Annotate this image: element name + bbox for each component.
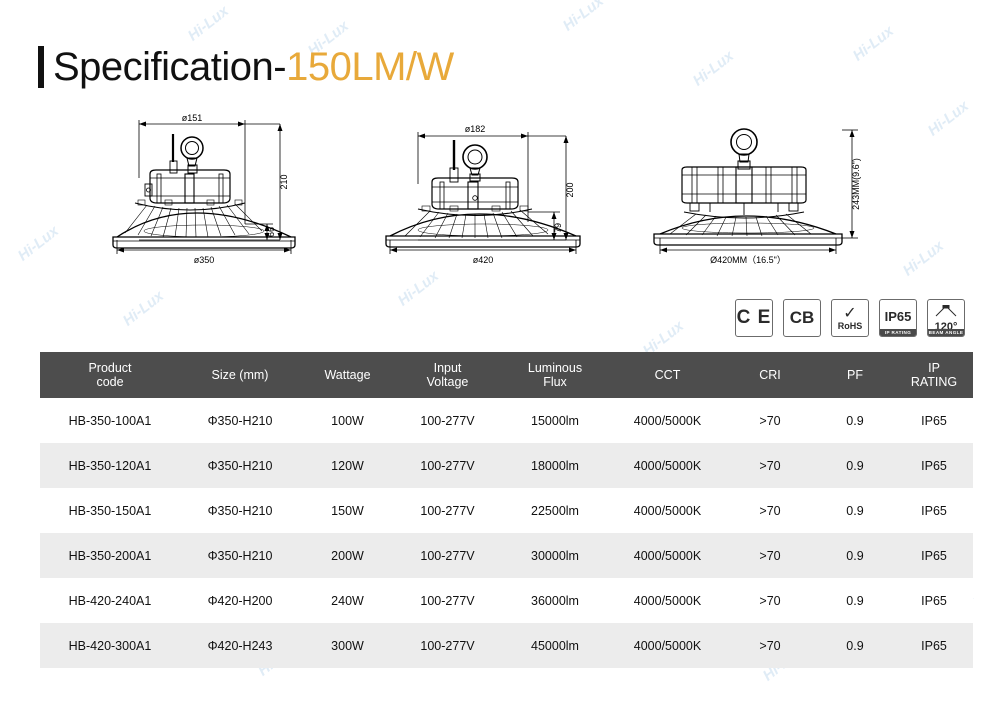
table-cell-r5-c2: 300W [300,623,395,668]
ce-badge: C E [735,299,773,337]
table-header-cell-7: PF [815,352,895,398]
table-cell-r1-c4: 18000lm [500,443,610,488]
table-cell-r3-c2: 200W [300,533,395,578]
header-line-2: code [42,375,178,389]
table-cell-r4-c0: HB-420-240A1 [40,578,180,623]
table-cell-r5-c1: Φ420-H243 [180,623,300,668]
table-cell-r1-c5: 4000/5000K [610,443,725,488]
header-line-1: CRI [727,368,813,382]
table-cell-r3-c6: >70 [725,533,815,578]
table-cell-r0-c1: Φ350-H210 [180,398,300,443]
table-cell-r4-c3: 100-277V [395,578,500,623]
dim-top-2: ø182 [465,124,486,134]
table-cell-r2-c8: IP65 [895,488,973,533]
table-cell-r2-c0: HB-350-150A1 [40,488,180,533]
watermark-text: Hi-Lux [690,47,737,89]
table-cell-r3-c0: HB-350-200A1 [40,533,180,578]
ip65-badge: IP65 IP RATING [879,299,917,337]
header-line-1: Input [397,361,498,375]
table-cell-r4-c8: IP65 [895,578,973,623]
ce-label: C E [737,307,772,329]
table-cell-r0-c7: 0.9 [815,398,895,443]
table-cell-r0-c2: 100W [300,398,395,443]
table-cell-r0-c6: >70 [725,398,815,443]
title-accent-bar [38,46,44,88]
page-title: Specification-150LM/W [38,46,454,88]
beam-angle-sublabel: BEAM ANGLE [928,329,964,336]
table-cell-r1-c3: 100-277V [395,443,500,488]
header-line-1: PF [817,368,893,382]
header-line-1: IP [897,361,971,375]
header-line-1: Product [42,361,178,375]
table-cell-r5-c7: 0.9 [815,623,895,668]
rohs-label: RoHS [838,321,863,331]
header-line-1: Size (mm) [182,368,298,382]
dim-height-3: 243MM(9.6") [851,158,861,210]
table-cell-r1-c1: Φ350-H210 [180,443,300,488]
table-cell-r1-c0: HB-350-120A1 [40,443,180,488]
diagram-300w: Ø420MM（16.5"） 243MM(9.6") [640,112,890,277]
table-cell-r2-c1: Φ350-H210 [180,488,300,533]
dim-lower-1: 66 [266,227,276,237]
diagram-240w: ø182 ø420 200 79 [370,112,620,277]
table-cell-r2-c6: >70 [725,488,815,533]
table-cell-r2-c2: 150W [300,488,395,533]
table-header-cell-1: Size (mm) [180,352,300,398]
header-line-2: Flux [502,375,608,389]
table-header-cell-0: Productcode [40,352,180,398]
table-cell-r2-c3: 100-277V [395,488,500,533]
table-cell-r1-c2: 120W [300,443,395,488]
table-header-cell-8: IPRATING [895,352,973,398]
certification-badges: C E CB ✓ RoHS IP65 IP RATING 120° BEAM A… [735,299,965,337]
watermark-text: Hi-Lux [120,287,167,329]
table-header-cell-6: CRI [725,352,815,398]
dim-bottom-2: ø420 [473,255,494,265]
diagram-100w-200w: ø151 ø350 210 66 [95,112,335,277]
beam-angle-badge: 120° BEAM ANGLE [927,299,965,337]
table-cell-r5-c6: >70 [725,623,815,668]
table-row: HB-420-300A1Φ420-H243300W100-277V45000lm… [40,623,973,668]
table-cell-r0-c8: IP65 [895,398,973,443]
table-cell-r1-c8: IP65 [895,443,973,488]
table-header-cell-4: LuminousFlux [500,352,610,398]
dim-top-1: ø151 [182,113,203,123]
table-header: ProductcodeSize (mm)WattageInputVoltageL… [40,352,973,398]
table-cell-r0-c4: 15000lm [500,398,610,443]
watermark-text: Hi-Lux [850,22,897,64]
dim-height-1: 210 [279,174,289,189]
rohs-badge: ✓ RoHS [831,299,869,337]
dim-height-2: 200 [565,182,575,197]
header-line-1: CCT [612,368,723,382]
table-row: HB-350-150A1Φ350-H210150W100-277V22500lm… [40,488,973,533]
dim-lower-2: 79 [553,223,563,233]
table-cell-r4-c6: >70 [725,578,815,623]
table-cell-r3-c3: 100-277V [395,533,500,578]
specification-table: ProductcodeSize (mm)WattageInputVoltageL… [40,352,973,668]
table-cell-r2-c5: 4000/5000K [610,488,725,533]
table-cell-r2-c7: 0.9 [815,488,895,533]
table-cell-r4-c4: 36000lm [500,578,610,623]
ip-rating-sublabel: IP RATING [880,329,916,336]
cb-label: CB [790,308,815,328]
product-diagrams: ø151 ø350 210 66 [0,112,1000,292]
table-row: HB-350-200A1Φ350-H210200W100-277V30000lm… [40,533,973,578]
table-cell-r5-c8: IP65 [895,623,973,668]
table-header-cell-3: InputVoltage [395,352,500,398]
watermark-text: Hi-Lux [185,2,232,44]
table-cell-r4-c7: 0.9 [815,578,895,623]
table-cell-r5-c4: 45000lm [500,623,610,668]
header-line-1: Luminous [502,361,608,375]
table-body: HB-350-100A1Φ350-H210100W100-277V15000lm… [40,398,973,668]
table-cell-r3-c7: 0.9 [815,533,895,578]
table-row: HB-420-240A1Φ420-H200240W100-277V36000lm… [40,578,973,623]
table-cell-r4-c1: Φ420-H200 [180,578,300,623]
specification-page: Hi-LuxHi-LuxHi-LuxHi-LuxHi-LuxHi-LuxHi-L… [0,0,1000,707]
title-accent: 150LM/W [286,45,454,89]
dim-bottom-1: ø350 [194,255,215,265]
table-cell-r5-c3: 100-277V [395,623,500,668]
title-text: Specification-150LM/W [53,46,454,88]
table-cell-r4-c2: 240W [300,578,395,623]
beam-angle-icon [933,305,959,318]
table-cell-r3-c5: 4000/5000K [610,533,725,578]
table-header-cell-5: CCT [610,352,725,398]
table-row: HB-350-120A1Φ350-H210120W100-277V18000lm… [40,443,973,488]
header-line-2: Voltage [397,375,498,389]
table-cell-r3-c1: Φ350-H210 [180,533,300,578]
table-cell-r3-c8: IP65 [895,533,973,578]
table-cell-r4-c5: 4000/5000K [610,578,725,623]
title-main: Specification- [53,45,286,89]
table-cell-r5-c5: 4000/5000K [610,623,725,668]
table-header-row: ProductcodeSize (mm)WattageInputVoltageL… [40,352,973,398]
header-line-1: Wattage [302,368,393,382]
table-cell-r0-c3: 100-277V [395,398,500,443]
table-cell-r3-c4: 30000lm [500,533,610,578]
header-line-2: RATING [897,375,971,389]
check-icon: ✓ [843,308,856,320]
table-row: HB-350-100A1Φ350-H210100W100-277V15000lm… [40,398,973,443]
dim-bottom-3: Ø420MM（16.5"） [710,255,786,265]
table-cell-r1-c7: 0.9 [815,443,895,488]
table-cell-r1-c6: >70 [725,443,815,488]
table-header-cell-2: Wattage [300,352,395,398]
ip65-label: IP65 [885,309,912,325]
table-cell-r2-c4: 22500lm [500,488,610,533]
watermark-text: Hi-Lux [560,0,607,35]
table-cell-r5-c0: HB-420-300A1 [40,623,180,668]
table-cell-r0-c0: HB-350-100A1 [40,398,180,443]
table-cell-r0-c5: 4000/5000K [610,398,725,443]
cb-badge: CB [783,299,821,337]
